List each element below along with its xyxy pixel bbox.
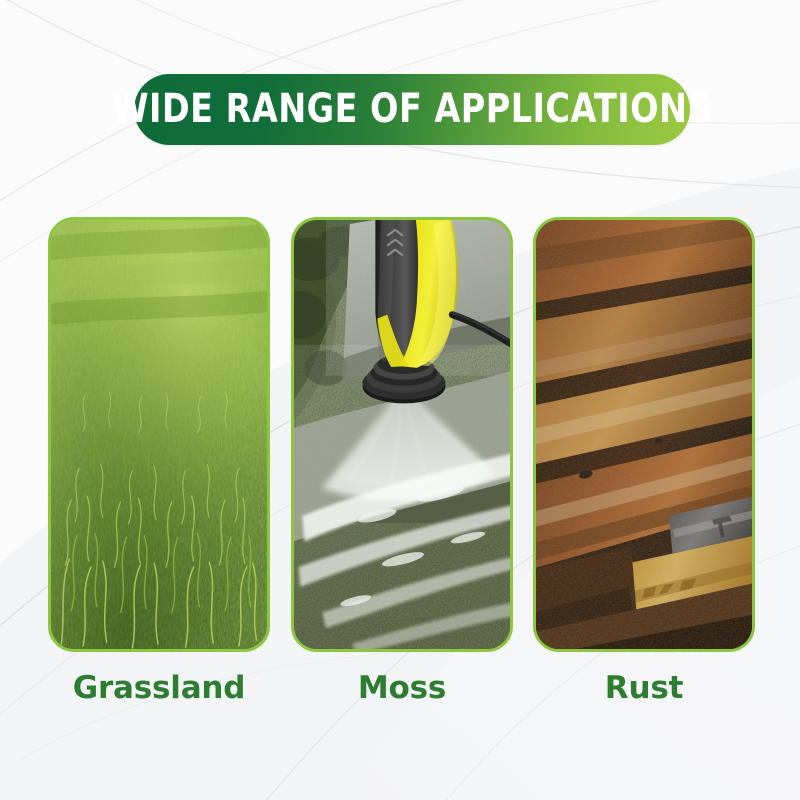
application-card-rust[interactable] [533,217,755,652]
card-label-moss: Moss [291,668,513,708]
pressure-washer-moss-photo [294,220,510,649]
application-cards [48,217,755,652]
headline-banner: WIDE RANGE OF APPLICATIONS [134,74,690,145]
card-label-rust: Rust [533,668,755,708]
grass-lawn-photo [51,220,267,649]
application-card-grassland[interactable] [48,217,270,652]
application-card-labels: Grassland Moss Rust [48,668,755,714]
page-title: WIDE RANGE OF APPLICATIONS [112,89,713,131]
headline-banner-pill: WIDE RANGE OF APPLICATIONS [134,74,690,145]
rusty-steel-plates-photo [536,220,752,649]
card-label-grassland: Grassland [48,668,270,708]
application-card-moss[interactable] [291,217,513,652]
application-showcase-page: WIDE RANGE OF APPLICATIONS [0,0,800,800]
